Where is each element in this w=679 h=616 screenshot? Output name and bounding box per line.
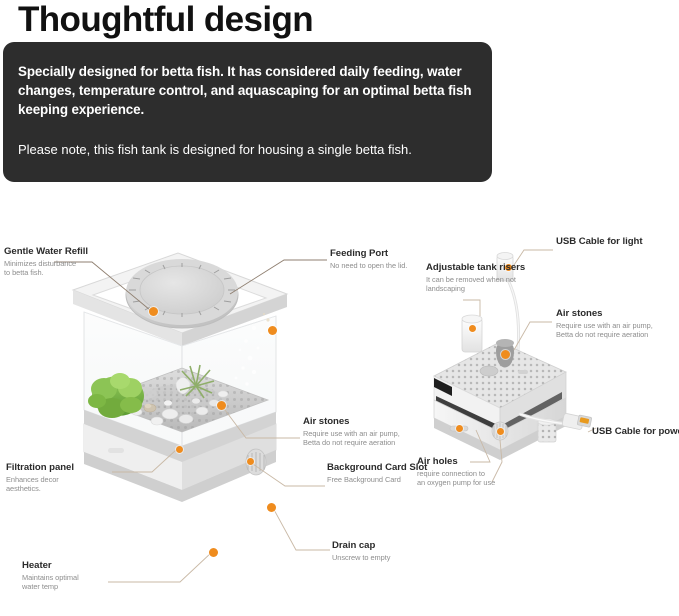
intro-note: Please note, this fish tank is designed … [18,140,474,159]
callout-title: USB Cable for light [556,236,642,248]
callout-usb-cable-for-light: USB Cable for light [556,236,642,248]
callout-filtration-panel: Filtration panel Enhances decor aestheti… [6,462,74,494]
hotspot-dot-air-stones-right[interactable] [501,350,510,359]
hotspot-dot-background-card-slot[interactable] [247,458,254,465]
callout-subtitle: No need to open the lid. [330,261,407,270]
product-diagram: Gentle Water Refill Minimizes disturbanc… [0,200,679,616]
callout-subtitle: Unscrew to empty [332,553,390,562]
callout-subtitle: Maintains optimal water temp [22,573,79,592]
hotspot-dot-gentle-water-refill[interactable] [149,307,158,316]
callout-air-stones-left: Air stones Require use with an air pump,… [303,416,400,448]
callout-gentle-water-refill: Gentle Water Refill Minimizes disturbanc… [4,246,88,278]
hotspot-dot-heater[interactable] [209,548,218,557]
hotspot-dot-drain-cap[interactable] [267,503,276,512]
callout-usb-cable-for-power: USB Cable for power [592,426,679,438]
riser-cylinder [462,315,482,352]
callout-subtitle: Free Background Card [327,475,427,484]
callout-title: Heater [22,560,79,572]
hotspot-dot-air-holes[interactable] [456,425,463,432]
hotspot-dot-filtration-panel[interactable] [176,446,183,453]
callout-title: Gentle Water Refill [4,246,88,258]
callout-title: Air stones [556,308,653,320]
hotspot-dot-air-stones-left[interactable] [217,401,226,410]
callout-title: Background Card Slot [327,462,427,474]
callout-subtitle: Minimizes disturbance to betta fish. [4,259,88,278]
callout-subtitle: It can be removed when not landscaping [426,275,525,294]
callout-adjustable-tank-risers: Adjustable tank risers It can be removed… [426,262,525,294]
callout-title: Air stones [303,416,400,428]
hotspot-dot-air-holes-secondary[interactable] [497,428,504,435]
callout-air-stones-right: Air stones Require use with an air pump,… [556,308,653,340]
callout-air-holes: Air holes require connection to an oxyge… [417,456,495,488]
intro-panel: Specially designed for betta fish. It ha… [3,42,492,182]
callout-title: Filtration panel [6,462,74,474]
callout-feeding-port: Feeding Port No need to open the lid. [330,248,407,270]
callout-title: Drain cap [332,540,390,552]
left-tank-illustration [73,253,287,502]
page-title: Thoughtful design [18,0,313,42]
callout-subtitle: Require use with an air pump, Betta do n… [303,429,400,448]
callout-subtitle: require connection to an oxygen pump for… [417,469,495,488]
callout-subtitle: Require use with an air pump, Betta do n… [556,321,653,340]
callout-drain-cap: Drain cap Unscrew to empty [332,540,390,562]
callout-title: Feeding Port [330,248,407,260]
callout-title: Adjustable tank risers [426,262,525,274]
intro-paragraph: Specially designed for betta fish. It ha… [18,62,474,119]
callout-background-card-slot: Background Card Slot Free Background Car… [327,462,427,484]
hotspot-dot-feeding-port[interactable] [268,326,277,335]
callout-title: Air holes [417,456,495,468]
callout-title: USB Cable for power [592,426,679,438]
callout-subtitle: Enhances decor aesthetics. [6,475,74,494]
hotspot-dot-adjustable-tank-risers[interactable] [469,325,476,332]
callout-heater: Heater Maintains optimal water temp [22,560,79,592]
